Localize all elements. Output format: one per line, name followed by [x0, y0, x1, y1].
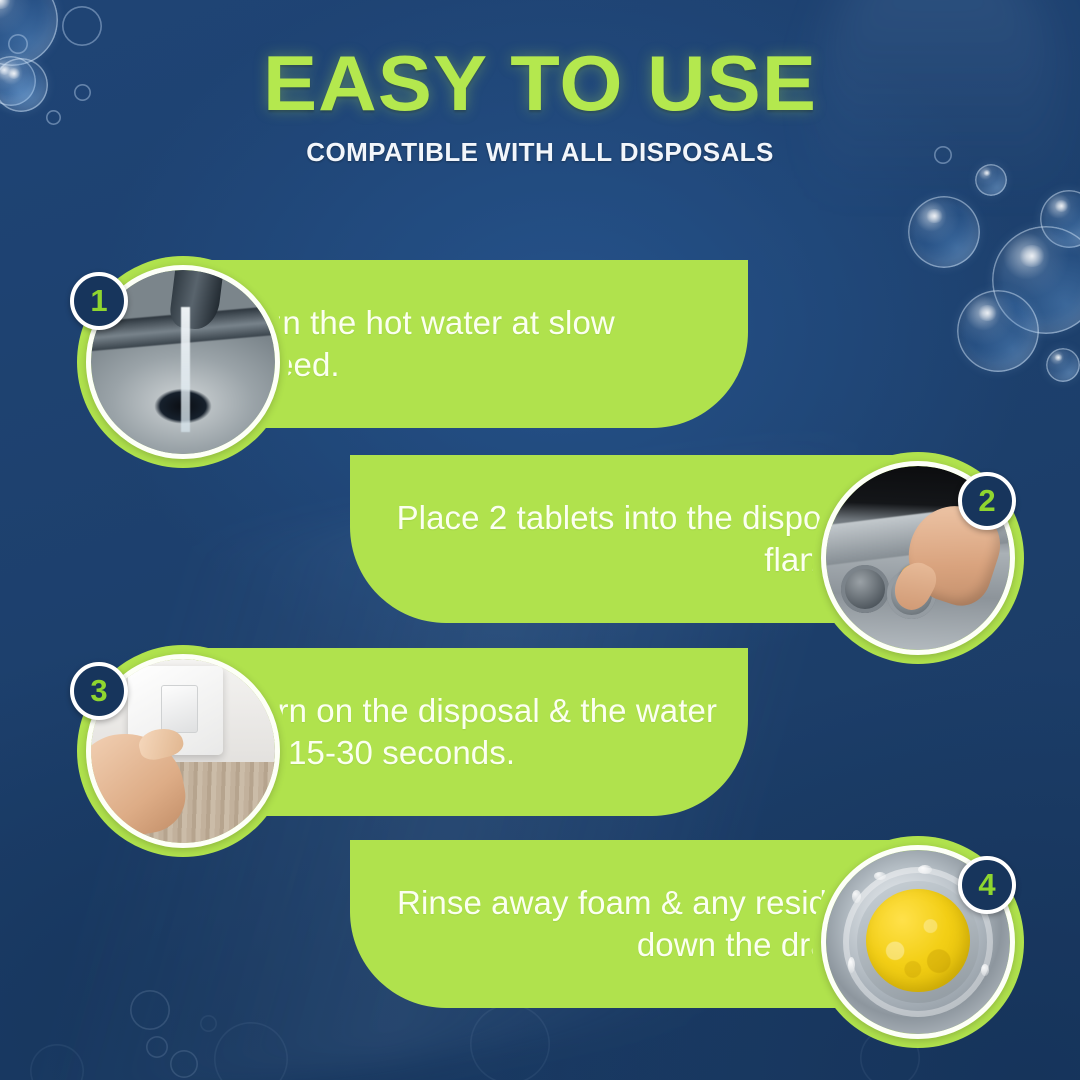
- page-title: EASY TO USE: [0, 44, 1080, 122]
- page-subtitle: COMPATIBLE WITH ALL DISPOSALS: [0, 139, 1080, 168]
- step-4-number: 4: [978, 867, 995, 903]
- step-4-number-badge: 4: [958, 856, 1016, 914]
- step-1-number: 1: [90, 283, 107, 319]
- step-1-number-badge: 1: [70, 272, 128, 330]
- header: EASY TO USE COMPATIBLE WITH ALL DISPOSAL…: [0, 44, 1080, 168]
- step-2-number: 2: [978, 483, 995, 519]
- step-2-number-badge: 2: [958, 472, 1016, 530]
- step-3-number: 3: [90, 673, 107, 709]
- step-3-number-badge: 3: [70, 662, 128, 720]
